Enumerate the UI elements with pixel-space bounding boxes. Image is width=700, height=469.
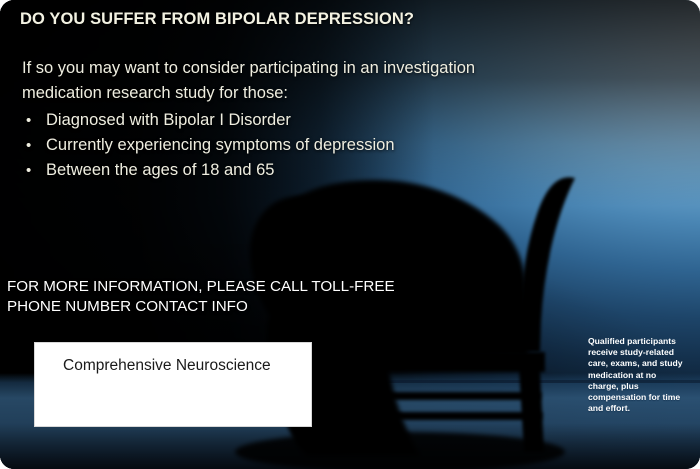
- sponsor-name: Comprehensive Neuroscience: [63, 357, 271, 375]
- list-item-label: Currently experiencing symptoms of depre…: [46, 136, 395, 154]
- intro-paragraph: If so you may want to consider participa…: [22, 56, 522, 106]
- bullet-icon: •: [26, 158, 31, 183]
- list-item: • Between the ages of 18 and 65: [22, 158, 532, 183]
- fineprint-disclaimer: Qualified participants receive study-rel…: [588, 336, 688, 414]
- bullet-icon: •: [26, 133, 31, 158]
- bipolar-depression-study-poster: DO YOU SUFFER FROM BIPOLAR DEPRESSION? I…: [0, 0, 700, 469]
- list-item-label: Diagnosed with Bipolar I Disorder: [46, 111, 291, 129]
- page-title: DO YOU SUFFER FROM BIPOLAR DEPRESSION?: [20, 10, 540, 29]
- sponsor-box: Comprehensive Neuroscience: [34, 342, 312, 427]
- eligibility-criteria-list: • Diagnosed with Bipolar I Disorder • Cu…: [22, 108, 532, 183]
- contact-callout: FOR MORE INFORMATION, PLEASE CALL TOLL-F…: [7, 277, 437, 317]
- bullet-icon: •: [26, 108, 31, 133]
- list-item: • Currently experiencing symptoms of dep…: [22, 133, 532, 158]
- list-item: • Diagnosed with Bipolar I Disorder: [22, 108, 532, 133]
- list-item-label: Between the ages of 18 and 65: [46, 161, 274, 179]
- chair-back-shape: [519, 177, 575, 352]
- floor-vignette: [0, 423, 700, 469]
- poster-photo-backdrop: DO YOU SUFFER FROM BIPOLAR DEPRESSION? I…: [0, 0, 700, 469]
